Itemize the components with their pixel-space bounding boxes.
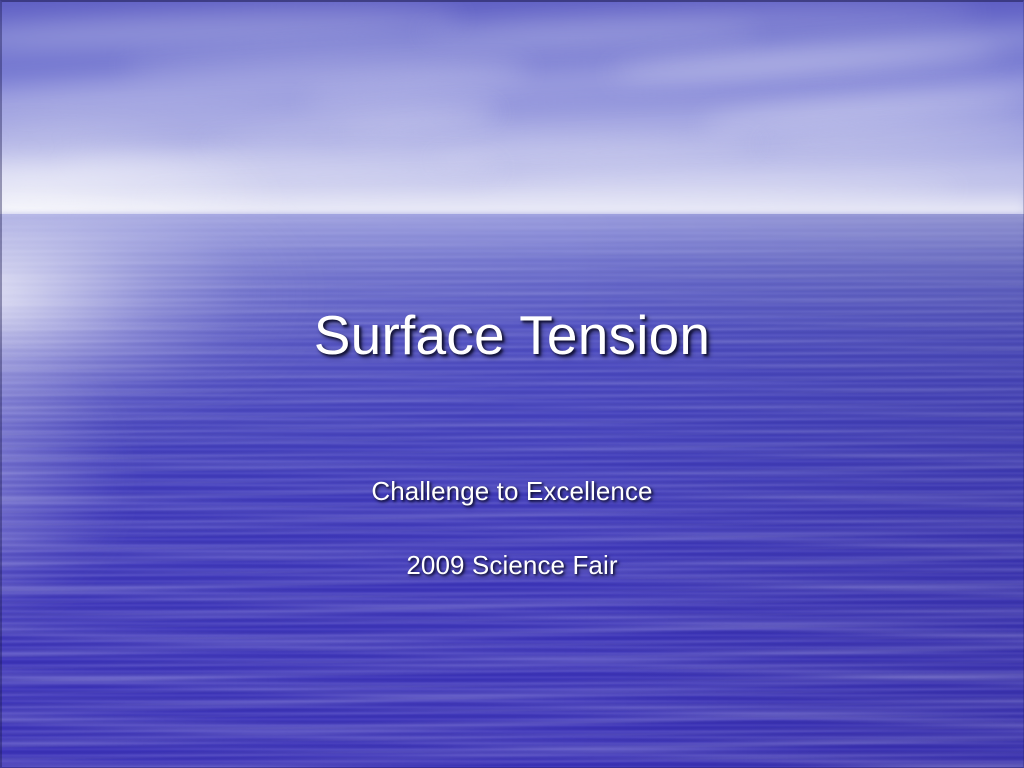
- slide-text-layer: Surface Tension Challenge to Excellence …: [0, 0, 1024, 768]
- slide-subtitle: Challenge to Excellence 2009 Science Fai…: [0, 474, 1024, 582]
- subtitle-spacer: [0, 508, 1024, 548]
- slide-title: Surface Tension: [0, 303, 1024, 367]
- subtitle-line-organization: Challenge to Excellence: [0, 474, 1024, 508]
- title-slide: Surface Tension Challenge to Excellence …: [0, 0, 1024, 768]
- subtitle-line-event: 2009 Science Fair: [0, 548, 1024, 582]
